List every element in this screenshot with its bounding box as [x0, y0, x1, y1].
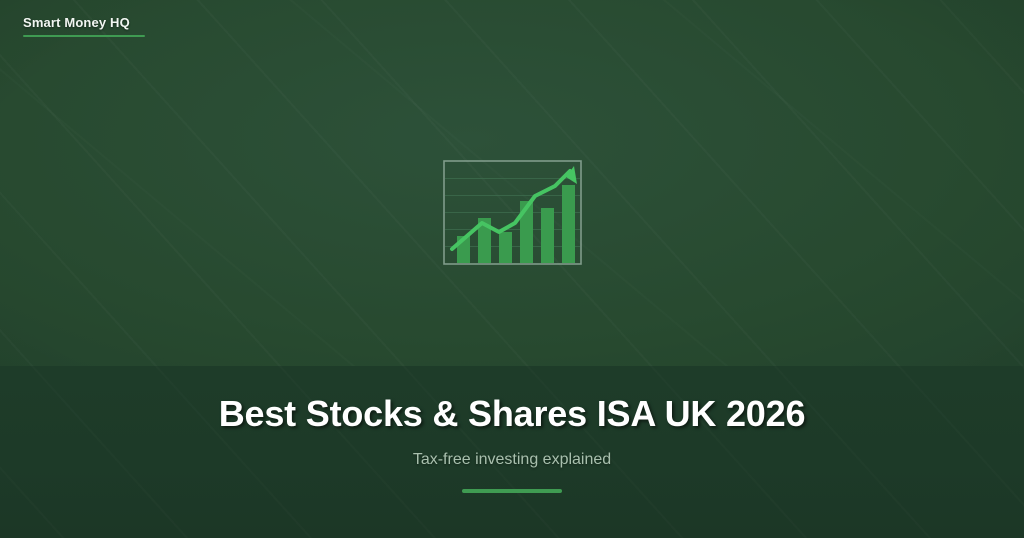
- brand-name: Smart Money HQ: [23, 14, 145, 32]
- hero-banner: Smart Money HQ: [0, 0, 1024, 538]
- page-title: Best Stocks & Shares ISA UK 2026: [219, 393, 806, 435]
- caption-content: Best Stocks & Shares ISA UK 2026 Tax-fre…: [0, 366, 1024, 538]
- caption-band: Best Stocks & Shares ISA UK 2026 Tax-fre…: [0, 366, 1024, 538]
- brand-underline: [23, 35, 145, 37]
- growth-bar-chart-icon: [443, 160, 582, 265]
- page-subtitle: Tax-free investing explained: [413, 450, 611, 470]
- brand-logo[interactable]: Smart Money HQ: [23, 14, 145, 37]
- accent-divider: [462, 489, 562, 493]
